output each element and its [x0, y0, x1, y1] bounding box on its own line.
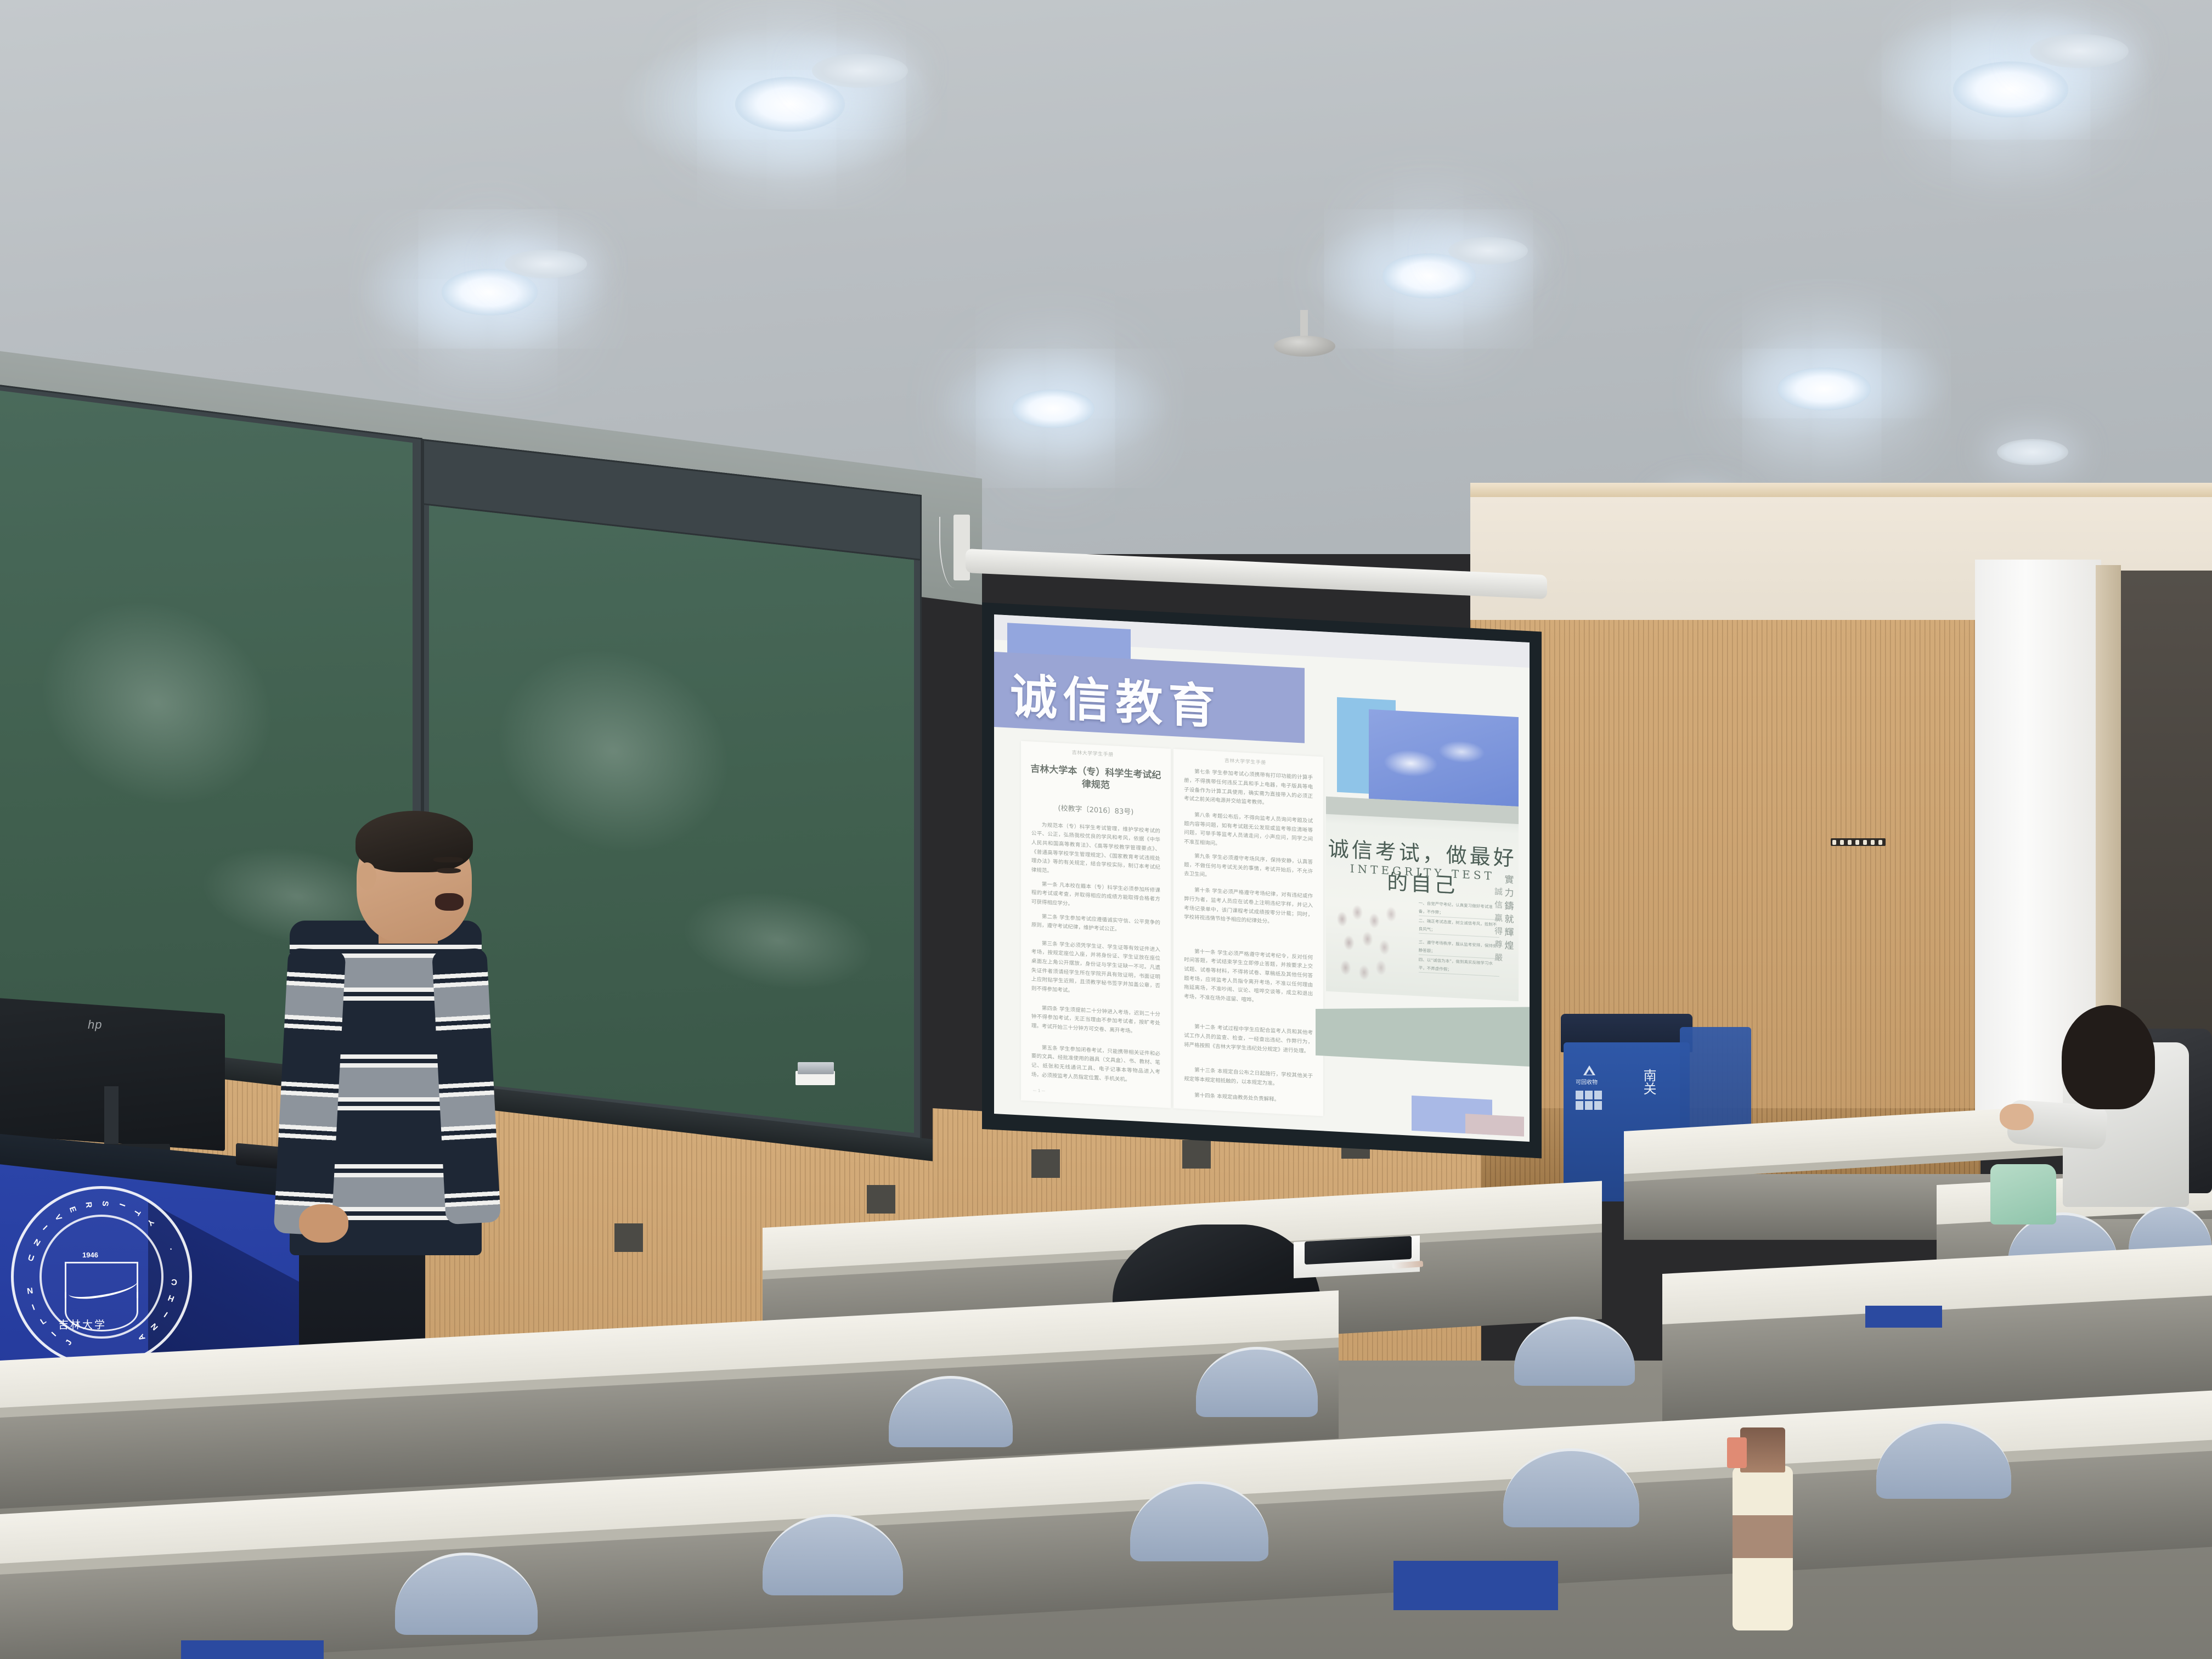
doc-article-9: 第九条 学生必须遵守考场风序，保持安静，认真答题，不做任何与考试无关的事情，考试…	[1184, 851, 1313, 885]
doc-article-5: 第五条 学生参加闭卷考试，只能携带相关证件和必要的文具、经批准使用的器具（文具盒…	[1031, 1043, 1160, 1086]
presenter-brow	[433, 857, 463, 862]
doc-article-13: 第十三条 本规定自公布之日起施行，学校其他关于规定等本规定相抵触的，以本规定为准…	[1184, 1065, 1313, 1091]
coat-hook-rail[interactable]	[1831, 838, 1886, 846]
presenter-hand	[299, 1204, 348, 1243]
doc-article-3: 第三条 学生必须凭学生证、学生证等有效证件进入考场，按规定座位入座，并将身份证、…	[1031, 939, 1160, 1000]
wall-vent-4	[867, 1185, 895, 1214]
doc-article-7: 第七条 学生参加考试心须携带有打印功能的计算手册，不得携带任何违反工具和手上电器…	[1184, 767, 1313, 810]
water-bottle[interactable]	[1733, 1466, 1793, 1630]
ceiling-light-2	[1953, 61, 2068, 117]
jilin-university-seal-chinese-name: 吉林大学	[58, 1317, 106, 1331]
seat-cushion-1[interactable]	[1393, 1561, 1558, 1610]
doc-header-note-right: 吉林大学学生手册	[1224, 757, 1266, 766]
doc-article-8: 第八条 考题公布后，不得向监考人员询问考题及试题内容等问题，如有考试题无公发现或…	[1184, 810, 1313, 854]
ceiling-light-2b	[2030, 34, 2129, 68]
doc-article-14: 第十四条 本规定由教务处负责解释。	[1184, 1091, 1313, 1107]
presenter-ear	[358, 862, 376, 890]
ceiling-light-4b	[1448, 237, 1528, 264]
seat-cushion-2[interactable]	[181, 1640, 324, 1659]
ceiling-light-1b	[812, 54, 908, 88]
screen-roller-tube	[966, 549, 1547, 599]
doc-article-11: 第十一条 学生必须严格遵守考试考纪令，反对任何时间答题，考试结束学生立即停止答题…	[1184, 947, 1313, 1008]
presenter-mouth	[435, 893, 464, 911]
doc-article-10: 第十条 学生必须严格遵守考场纪律，对有违纪或作弊行为者，监考人员应在试卷上注明违…	[1184, 886, 1313, 929]
doc-article-2: 第二条 学生参加考试应遵循诚实守信、公平竞争的原则，遵守考试纪律，维护考试公正。	[1031, 912, 1160, 937]
wall-vent-1	[1031, 1149, 1060, 1178]
poster-body-line-2: 二、端正考试态度，树立诚信考风，抵制不良风气；	[1419, 916, 1500, 938]
doc-preamble: 为规范本（专）科学生考试管理，维护学校考试的公平、公正，弘扬我校优良的学风和考风…	[1031, 820, 1160, 882]
student-mint-bag[interactable]	[1990, 1164, 2056, 1224]
recycle-icon	[1583, 1065, 1595, 1075]
jilin-university-seal-year: 1946	[82, 1251, 98, 1259]
ceiling-light-7	[1997, 439, 2068, 465]
doc-title-left: 吉林大学本（专）科学生考试纪律规范	[1030, 763, 1161, 794]
hp-logo-icon: hp	[88, 1018, 102, 1032]
water-bottle-clip-icon	[1727, 1437, 1747, 1468]
cove-light	[1470, 483, 2212, 497]
slide-green-band	[1316, 996, 1530, 1067]
water-bottle-cap[interactable]	[1740, 1427, 1785, 1472]
slide-document-right: 吉林大学学生手册 第七条 学生参加考试心须携带有打印功能的计算手册，不得携带任何…	[1173, 749, 1323, 1116]
wall-vent-5	[614, 1223, 643, 1252]
poster-body-line-4: 四、以“诚信为本”，做到真实反映学习水平，不弄虚作假；	[1419, 955, 1500, 977]
slide-bottom-pink-block	[1465, 1114, 1524, 1137]
ceiling-light-6	[1778, 368, 1871, 410]
ceiling-light-3b	[505, 250, 587, 278]
student-hair	[2062, 1005, 2155, 1109]
doc-article-1: 第一条 凡本校在籍本（专）科学生必须参加所修课程的考试或考查，并取得相应的成绩方…	[1031, 879, 1160, 913]
chair-back-mid-3[interactable]	[1514, 1317, 1635, 1386]
blackboard-eraser-icon[interactable]	[798, 1062, 834, 1074]
wall-vent-2	[1182, 1140, 1211, 1169]
ceiling-light-1	[735, 77, 845, 132]
ceiling-light-5	[1012, 390, 1094, 428]
doc-footer-left: — 1 —	[1033, 1088, 1046, 1093]
recycle-bin-icon-grid	[1576, 1091, 1602, 1110]
student-hand	[2000, 1104, 2034, 1130]
recycle-bin-district: 南关	[1640, 1069, 1657, 1095]
recycle-bin-label: 可回收物	[1576, 1080, 1598, 1086]
slide-title: 诚信教育	[1010, 658, 1221, 737]
lecture-hall-scene: 诚信教育 吉林大学学生手册 吉林大学本（专）科学生考试纪律规范 (校教字〔201…	[0, 0, 2212, 1659]
ceiling-speaker-icon	[1274, 336, 1335, 357]
projected-slide: 诚信教育 吉林大学学生手册 吉林大学本（专）科学生考试纪律规范 (校教字〔201…	[994, 614, 1530, 1142]
presenter-eye	[437, 868, 461, 873]
doc-article-4: 第四条 学生须提前二十分钟进入考场，迟到二十分钟不得参加考试，无正当理由不参加考…	[1031, 1003, 1160, 1037]
poster-vertical-left: 誠信贏得尊嚴	[1493, 887, 1504, 977]
doc-number: (校教字〔2016〕83号)	[1030, 800, 1161, 818]
poster-crowd-image	[1332, 890, 1417, 988]
doc-article-12: 第十二条 考试过程中学生应配合监考人员和其他考试工作人员的监查、检查，一经查出违…	[1184, 1023, 1313, 1057]
slide-document-left: 吉林大学学生手册 吉林大学本（专）科学生考试纪律规范 (校教字〔2016〕83号…	[1021, 741, 1171, 1108]
seat-cushion-3[interactable]	[1865, 1306, 1942, 1328]
slide-poster: 诚信考试，做最好的自己 INTEGRITY TEST 一、自觉严守考纪，认真复习…	[1326, 797, 1519, 1001]
doc-header-note-left: 吉林大学学生手册	[1072, 749, 1114, 758]
presenter-hair	[356, 811, 473, 872]
monitor-stand	[104, 1086, 119, 1152]
slide-cloud-image	[1369, 709, 1519, 811]
